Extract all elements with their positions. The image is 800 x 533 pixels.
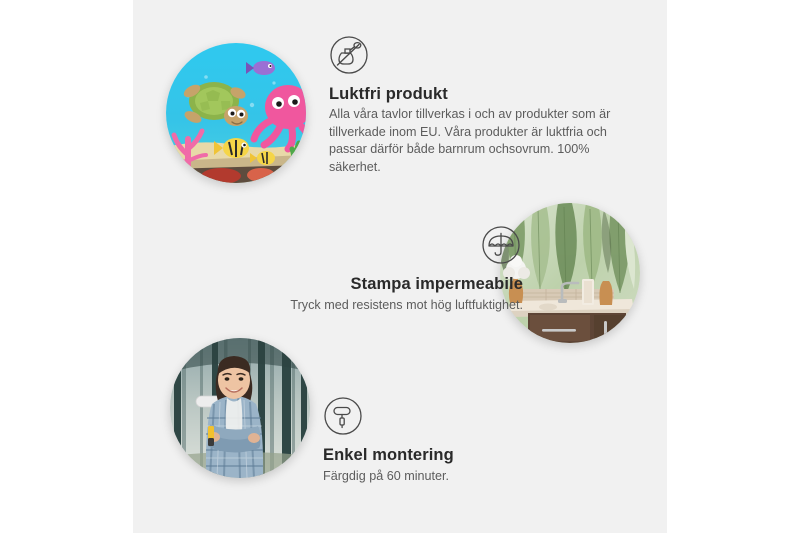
content-canvas: Luktfri produkt Alla våra tavlor tillver… [133,0,667,533]
paint-roller-icon [323,396,363,436]
feature-body: Alla våra tavlor tillverkas i och av pro… [329,106,625,176]
feature-block-easy-mounting: Enkel montering Färgdig på 60 minuter. [323,396,623,486]
feature-block-odourless: Luktfri produkt Alla våra tavlor tillver… [329,35,629,176]
no-fragrance-icon [329,35,369,75]
feature-body: Färgdig på 60 minuter. [323,468,623,486]
umbrella-icon [481,225,521,265]
feature-title: Enkel montering [323,446,623,465]
feature-title: Stampa impermeabile [213,275,523,294]
feature-block-waterproof: Stampa impermeabile Tryck med resistens … [213,225,523,315]
photo-forest-scene [170,338,310,478]
feature-body: Tryck med resistens mot hög luftfuktighe… [213,297,523,315]
photo-ocean-scene [166,43,306,183]
product-feature-infographic: Luktfri produkt Alla våra tavlor tillver… [0,0,800,533]
feature-title: Luktfri produkt [329,85,629,104]
